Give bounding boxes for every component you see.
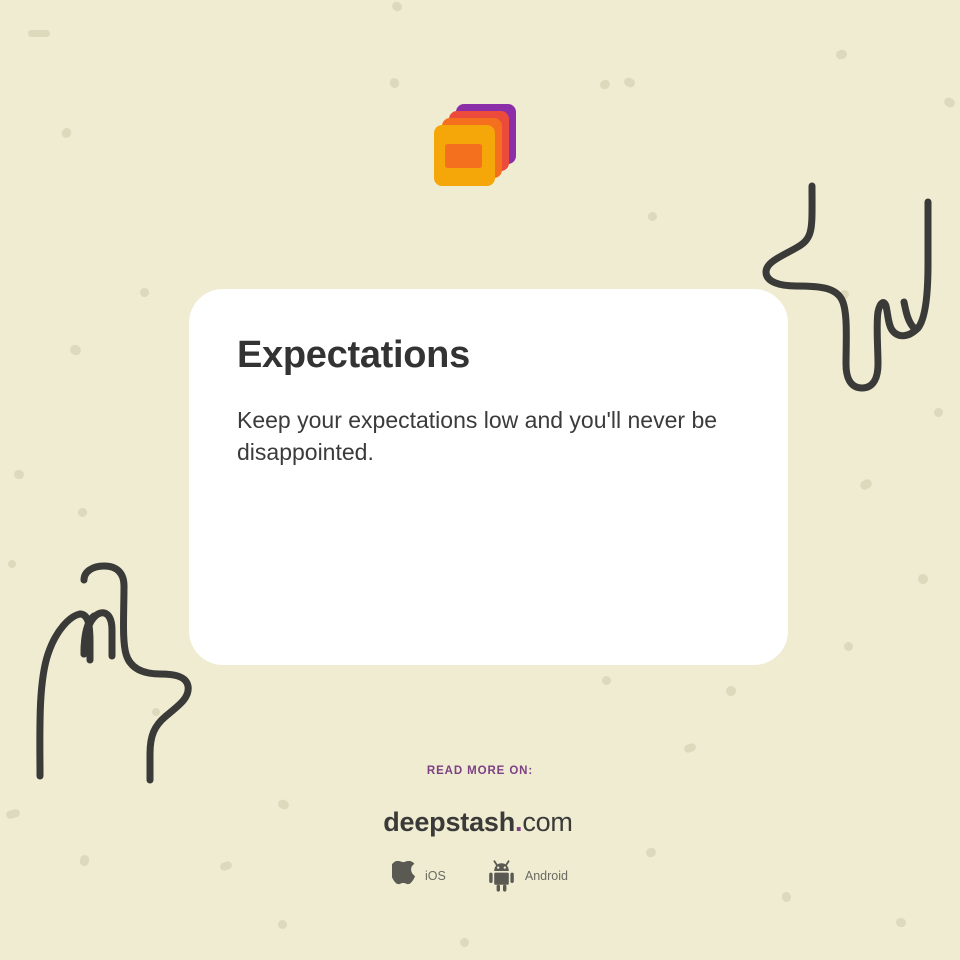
background-speck xyxy=(859,478,874,492)
brand-name: deepstash xyxy=(383,807,515,837)
background-speck xyxy=(598,78,611,91)
read-more-label: READ MORE ON: xyxy=(0,765,960,777)
background-speck xyxy=(389,77,401,89)
background-speck xyxy=(76,506,88,518)
background-speck xyxy=(600,674,613,687)
background-speck xyxy=(781,891,792,903)
app-store-row: iOS xyxy=(0,860,960,892)
background-speck xyxy=(68,343,83,358)
background-speck xyxy=(835,49,848,61)
brand-tld: com xyxy=(522,807,572,837)
background-speck xyxy=(623,76,637,89)
footer: READ MORE ON: deepstash.com iOS xyxy=(0,765,960,892)
quote-card-page: Expectations Keep your expectations low … xyxy=(0,0,960,960)
brand-wordmark[interactable]: deepstash.com xyxy=(0,809,960,836)
background-speck xyxy=(933,407,945,419)
background-speck xyxy=(28,30,50,37)
background-speck xyxy=(459,937,471,949)
apple-icon xyxy=(392,861,417,891)
background-speck xyxy=(916,572,929,585)
hand-pointing-up-illustration xyxy=(18,558,213,793)
background-speck xyxy=(895,917,907,929)
background-speck xyxy=(139,287,151,299)
ios-label: iOS xyxy=(425,869,446,883)
android-label: Android xyxy=(525,869,568,883)
card-body-text: Keep your expectations low and you'll ne… xyxy=(237,404,740,469)
background-speck xyxy=(13,469,25,480)
background-speck xyxy=(843,641,853,651)
background-speck xyxy=(683,742,697,754)
background-speck xyxy=(61,127,73,139)
quote-card: Expectations Keep your expectations low … xyxy=(189,289,788,665)
ios-store-link[interactable]: iOS xyxy=(392,861,446,891)
background-speck xyxy=(942,96,956,109)
deepstash-logo xyxy=(430,104,516,196)
background-speck xyxy=(390,0,403,13)
background-speck xyxy=(724,684,738,698)
card-title: Expectations xyxy=(237,335,740,377)
background-speck xyxy=(647,211,658,222)
background-speck xyxy=(277,919,287,929)
background-speck xyxy=(6,558,17,569)
android-icon xyxy=(486,860,517,892)
android-store-link[interactable]: Android xyxy=(486,860,568,892)
